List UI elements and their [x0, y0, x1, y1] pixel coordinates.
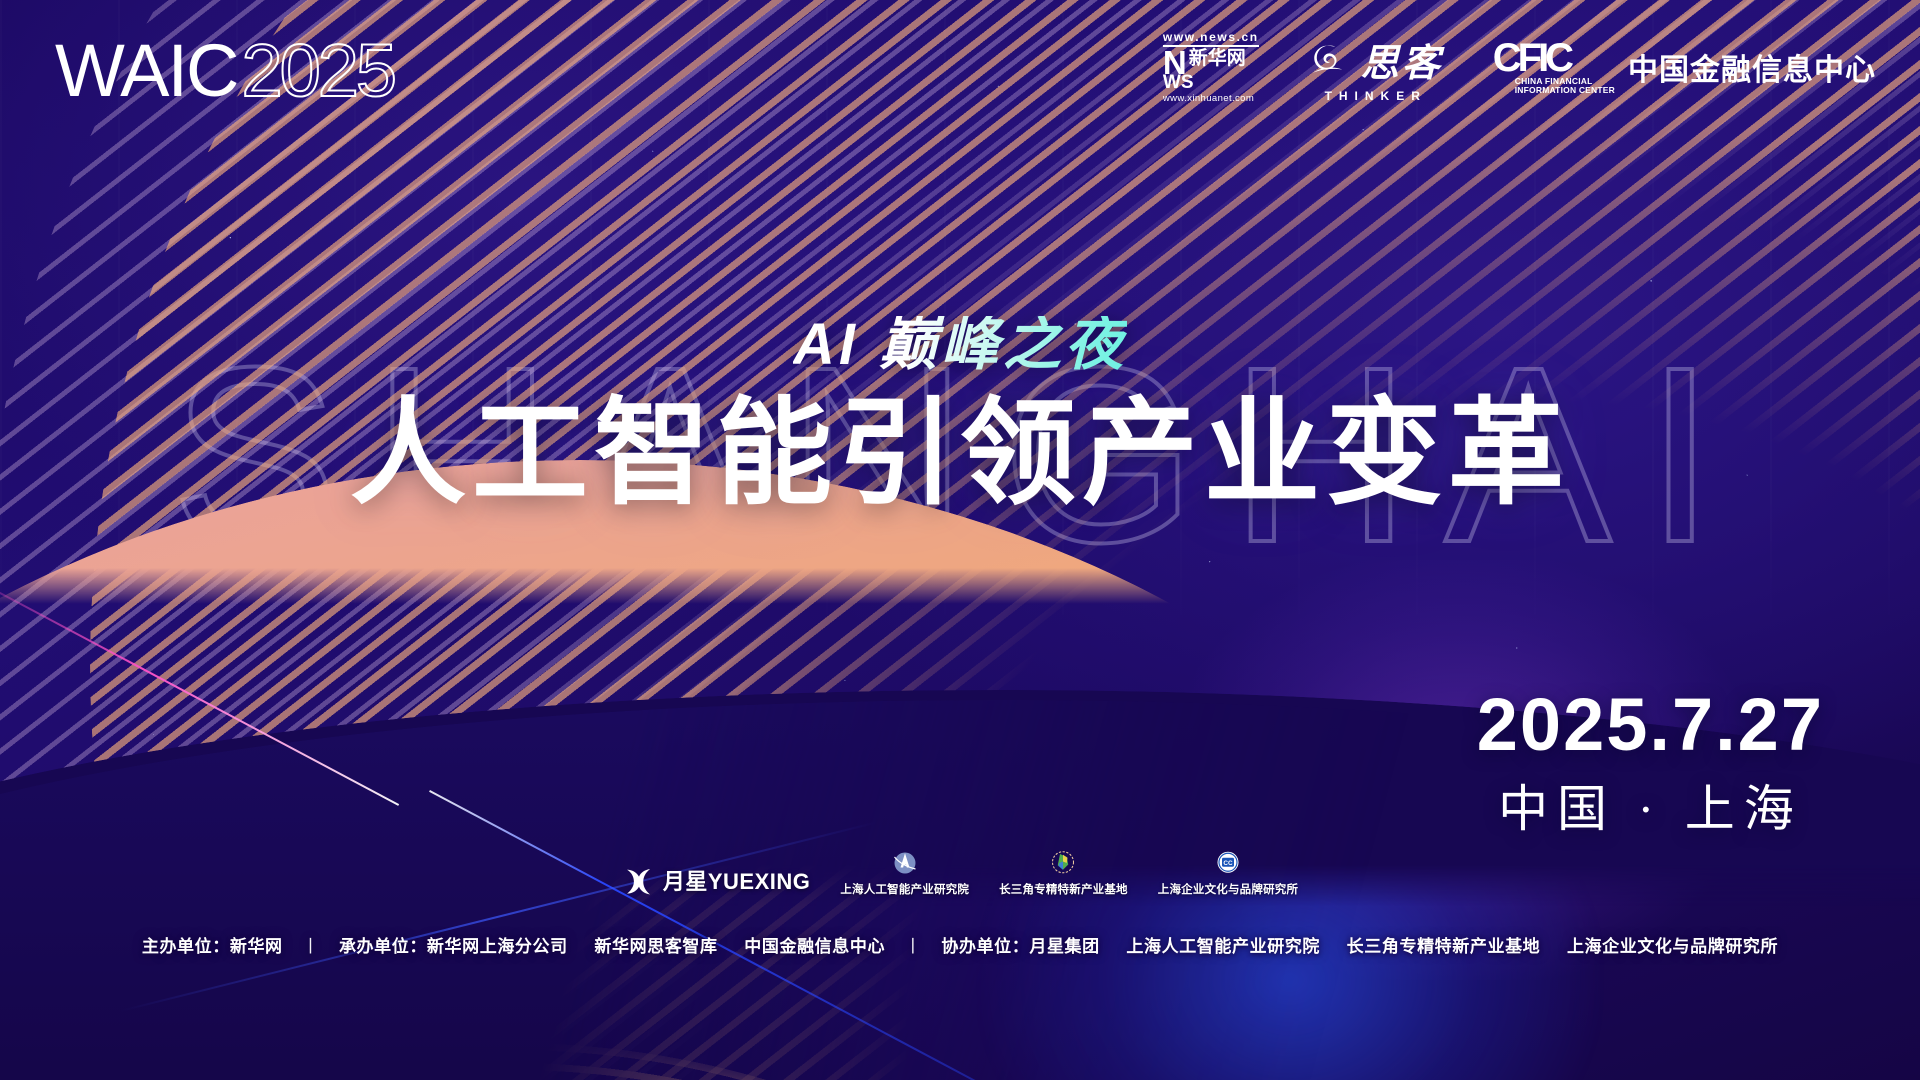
- credit-organizer-2: 新华网思客智库: [594, 937, 717, 956]
- brush-swirl-icon: [1309, 38, 1351, 80]
- sponsor-yuexing: 月星YUEXING: [622, 863, 811, 897]
- credit-organizer-1: 承办单位：新华网上海分公司: [339, 937, 568, 956]
- credit-coorganizer-1: 协办单位：月星集团: [941, 937, 1099, 956]
- thinker-name-cn: 思客: [1361, 32, 1443, 87]
- credit-coorganizer-4: 上海企业文化与品牌研究所: [1567, 937, 1778, 956]
- credit-organizer-3: 中国金融信息中心: [744, 937, 885, 956]
- event-date: 2025.7.27: [1477, 688, 1824, 762]
- sponsor-ai-institute-name: 上海人工智能产业研究院: [840, 881, 969, 897]
- sponsor-brand-institute-name: 上海企业文化与品牌研究所: [1158, 881, 1298, 897]
- title-block: AI 巅峰之夜 人工智能引领产业变革: [0, 316, 1920, 515]
- sponsor-brand-institute: CC 上海企业文化与品牌研究所: [1158, 848, 1298, 897]
- waic-wordmark: WAIC: [55, 34, 237, 108]
- partner-logo-row: www.news.cn N 新华网 WS www.xinhuanet.com 思…: [1163, 30, 1876, 104]
- partner-logo-cfic: CFIC CHINA FINANCIAL INFORMATION CENTER …: [1493, 39, 1876, 96]
- partner-logo-thinker: 思客 THINKER: [1309, 32, 1443, 103]
- credit-separator-2: 丨: [890, 932, 936, 957]
- yuexing-star-icon: [622, 863, 656, 897]
- xinhuanet-url-bottom: www.xinhuanet.com: [1163, 93, 1254, 104]
- cfic-wordmark: CFIC: [1493, 39, 1570, 77]
- cfic-mark-wrap: CFIC CHINA FINANCIAL INFORMATION CENTER: [1493, 39, 1615, 96]
- sponsor-yangtze-delta: 长三角专精特新产业基地: [999, 848, 1128, 897]
- poster-header: WAIC 2025 www.news.cn N 新华网 WS www.xinhu…: [0, 0, 1920, 140]
- yangtze-delta-icon: [1048, 848, 1078, 878]
- event-location: 中国 · 上海: [1477, 784, 1824, 834]
- waic-year: 2025: [241, 34, 394, 108]
- date-location-block: 2025.7.27 中国 · 上海: [1477, 688, 1824, 834]
- thinker-name-en: THINKER: [1325, 89, 1427, 103]
- sponsor-logo-strip: 月星YUEXING 上海人工智能产业研究院 长三角专精特新产业基地: [0, 848, 1920, 897]
- credit-coorganizer-3: 长三角专精特新产业基地: [1347, 937, 1541, 956]
- waic-logo: WAIC 2025: [55, 34, 394, 108]
- cfic-name-en-line2: INFORMATION CENTER: [1515, 85, 1615, 95]
- ai-institute-icon: [890, 848, 920, 878]
- xinhuanet-letters-ws: WS: [1163, 73, 1194, 92]
- credit-host: 主办单位：新华网: [142, 937, 283, 956]
- sponsor-yuexing-name: 月星YUEXING: [663, 864, 811, 896]
- event-subtitle: AI 巅峰之夜: [793, 316, 1127, 374]
- thinker-mark-row: 思客: [1309, 32, 1443, 87]
- svg-text:CC: CC: [1223, 860, 1233, 867]
- cfic-name-cn: 中国金融信息中心: [1628, 45, 1876, 89]
- sponsor-yangtze-delta-name: 长三角专精特新产业基地: [999, 881, 1128, 897]
- sponsor-ai-institute: 上海人工智能产业研究院: [840, 848, 969, 897]
- event-poster: SHANGHAI WAIC 2025 www.news.cn N 新华网 WS …: [0, 0, 1920, 1080]
- credit-coorganizer-2: 上海人工智能产业研究院: [1126, 937, 1320, 956]
- cfic-name-en-line1: CHINA FINANCIAL: [1515, 76, 1593, 86]
- credits-bar: 主办单位：新华网 丨 承办单位：新华网上海分公司 新华网思客智库 中国金融信息中…: [0, 932, 1920, 957]
- brand-institute-icon: CC: [1213, 848, 1243, 878]
- cfic-name-en: CHINA FINANCIAL INFORMATION CENTER: [1515, 77, 1615, 96]
- credit-separator-1: 丨: [288, 932, 334, 957]
- event-headline: 人工智能引领产业变革: [0, 392, 1920, 515]
- xinhuanet-name-cn: 新华网: [1189, 49, 1246, 68]
- partner-logo-xinhuanet: www.news.cn N 新华网 WS www.xinhuanet.com: [1163, 30, 1259, 104]
